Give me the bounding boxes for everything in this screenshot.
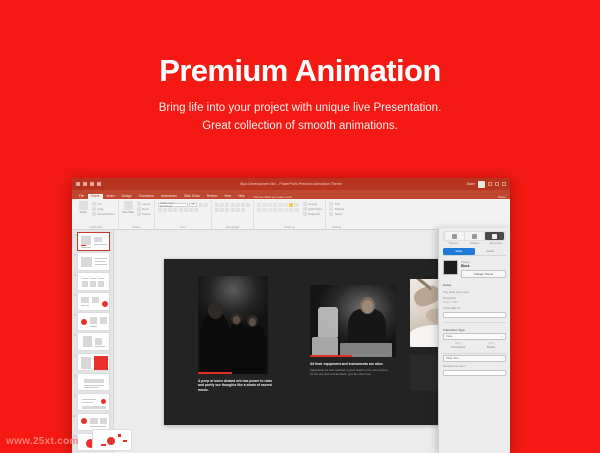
- center-icon[interactable]: [220, 208, 224, 212]
- find-button[interactable]: Find: [329, 202, 344, 206]
- man-at-desk-photo[interactable]: [310, 285, 396, 357]
- ribbon-group-drawing: Arrange Quick Styles Shape Fill Drawing: [254, 200, 326, 229]
- paste-label: Paste: [80, 211, 87, 214]
- copy-button[interactable]: Copy: [92, 207, 115, 211]
- change-theme-button[interactable]: Change Theme: [461, 270, 506, 278]
- hero-banner: Premium Animation Bring life into your p…: [0, 0, 600, 178]
- group-label-font: Font: [158, 226, 208, 230]
- slide-thumbnail-3[interactable]: [77, 272, 110, 291]
- watermark-text: www.25xt.com: [6, 436, 79, 447]
- increase-font-size-icon[interactable]: [199, 203, 203, 207]
- transition-type-value: Fade: [446, 334, 452, 338]
- list-item[interactable]: 8: [73, 373, 111, 392]
- slide-thumbnail-pane[interactable]: 1 2 3: [72, 230, 114, 453]
- replace-icon: [329, 207, 333, 211]
- italic-icon[interactable]: [163, 208, 167, 212]
- thumbnail-number: 9: [73, 393, 76, 398]
- shape-highlight-icon[interactable]: [289, 203, 293, 207]
- segment-label-shapes: Shapes: [464, 242, 484, 245]
- segment-label-document: Document: [486, 242, 506, 245]
- setting-show-slide-for[interactable]: Show slide for: [443, 306, 506, 318]
- theme-value: Black: [461, 264, 506, 268]
- password-label: Password to open: [443, 364, 506, 368]
- minimize-icon[interactable]: [488, 182, 492, 186]
- slide-size-select[interactable]: Slide Size... ⌄: [443, 355, 506, 362]
- builds-duration[interactable]: 1.0 s Builds: [476, 342, 506, 349]
- shape-fill-button[interactable]: Shape Fill: [303, 212, 323, 216]
- chevron-down-icon: ⌄: [500, 356, 503, 360]
- paste-icon: [79, 201, 88, 210]
- cut-icon: [92, 202, 96, 206]
- caption-left-text: A peep of some distant orb has power to …: [198, 379, 274, 393]
- tab-audio[interactable]: Audio: [475, 248, 507, 255]
- list-item[interactable]: 5: [73, 312, 111, 331]
- tab-slide[interactable]: Slide: [443, 248, 475, 255]
- slide-thumbnail-4[interactable]: [77, 292, 110, 311]
- group-label-clipboard: Clipboard: [77, 226, 115, 230]
- arrange-icon: [303, 202, 307, 206]
- list-item[interactable]: 7: [73, 353, 111, 372]
- convert-smartart-icon[interactable]: [241, 208, 245, 212]
- group-label-paragraph: Paragraph: [215, 226, 250, 230]
- change-case-icon[interactable]: [189, 208, 193, 212]
- chevron-down-icon: ⌄: [500, 334, 503, 338]
- ribbon-group-editing: Find Replace Select Editing: [326, 200, 347, 229]
- builds-duration-label: Builds: [476, 345, 506, 349]
- group-label-slides: Slides: [122, 226, 151, 230]
- powerpoint-window[interactable]: Sipa Development Mix - PowerPoint Premiu…: [72, 178, 510, 453]
- thumbnail-number: 1: [73, 232, 76, 237]
- new-slide-icon: [124, 201, 133, 210]
- watermark-thumbnail: [92, 429, 132, 451]
- underline-icon[interactable]: [168, 208, 172, 212]
- workspace: 1 2 3: [72, 230, 510, 453]
- close-icon[interactable]: [502, 182, 506, 186]
- columns-icon[interactable]: [236, 208, 240, 212]
- caption-right-body: Apparently we had reached a great height…: [310, 368, 390, 376]
- text-direction-icon[interactable]: [241, 203, 245, 207]
- ribbon-tab-bar[interactable]: File Home Insert Design Transitions Anim…: [72, 190, 510, 199]
- ribbon-group-paragraph: Paragraph: [212, 200, 254, 229]
- replace-button[interactable]: Replace: [329, 207, 344, 211]
- window-titlebar[interactable]: Sipa Development Mix - PowerPoint Premiu…: [72, 178, 510, 190]
- inspector-segment-control[interactable]: [443, 231, 506, 241]
- format-painter-button[interactable]: Format Painter: [92, 212, 115, 216]
- strikethrough-icon[interactable]: [179, 208, 183, 212]
- segment-label-themes: Themes: [443, 242, 463, 245]
- numbering-icon[interactable]: [220, 203, 224, 207]
- document-title: Sipa Development Mix - PowerPoint Premiu…: [72, 182, 510, 186]
- ribbon-group-slides: New Slide Layout Reset Section: [119, 200, 155, 229]
- slide-thumbnail-2[interactable]: [77, 252, 110, 271]
- thumbnail-number: 2: [73, 252, 76, 257]
- format-inspector-panel[interactable]: Themes Shapes Document Slide Audio Theme…: [438, 228, 510, 453]
- password-section: Password to open: [443, 364, 506, 376]
- segment-document[interactable]: [485, 232, 504, 240]
- list-item[interactable]: 1: [73, 232, 111, 251]
- theme-swatch[interactable]: [443, 260, 458, 275]
- layout-button[interactable]: Layout: [137, 202, 151, 206]
- list-item[interactable]: 2: [73, 252, 111, 271]
- transition-type-select[interactable]: Fade ⌄: [443, 333, 506, 340]
- section-button[interactable]: Section: [137, 212, 151, 216]
- slide-thumbnail-5[interactable]: [77, 312, 110, 331]
- caption-right-heading: All their equipment and instruments are …: [310, 362, 390, 367]
- themes-icon: [452, 234, 457, 239]
- shapes-gallery[interactable]: [257, 201, 298, 212]
- ribbon-group-clipboard: Paste Cut Copy Format Painter: [74, 200, 119, 229]
- reset-button[interactable]: Reset: [137, 207, 151, 211]
- group-label-editing: Editing: [329, 226, 344, 230]
- hero-subtitle-line-1: Bring life into your project with unique…: [159, 100, 442, 118]
- segment-themes[interactable]: [445, 232, 464, 240]
- bold-icon[interactable]: [158, 208, 162, 212]
- font-color-icon[interactable]: [194, 208, 198, 212]
- shapes-icon: [472, 234, 477, 239]
- cut-button[interactable]: Cut: [92, 202, 115, 206]
- reset-icon: [137, 207, 141, 211]
- align-left-icon[interactable]: [215, 208, 219, 212]
- font-name-input[interactable]: Calibri Light (Headings): [158, 203, 188, 208]
- divider: [443, 353, 506, 354]
- copy-icon: [92, 207, 96, 211]
- password-input[interactable]: [443, 370, 506, 376]
- setting-play-on-open[interactable]: Play slide upon open: [443, 290, 506, 294]
- layout-icon: [137, 202, 141, 206]
- align-right-icon[interactable]: [225, 208, 229, 212]
- justify-icon[interactable]: [231, 208, 235, 212]
- document-icon: [492, 234, 497, 239]
- theme-section: Theme Black Change Theme: [443, 260, 506, 279]
- slide-editing-area[interactable]: A peep of some distant orb has power to …: [164, 259, 460, 425]
- slide-thumbnail-6[interactable]: [77, 332, 110, 351]
- thumbnail-number: 4: [73, 292, 76, 297]
- group-label-drawing: Drawing: [257, 226, 322, 230]
- thumbnail-number: 3: [73, 272, 76, 277]
- duration-row: 0.8 s Transitions 1.0 s Builds: [443, 342, 506, 349]
- slide-thumbnail-9[interactable]: [77, 393, 110, 412]
- maximize-icon[interactable]: [495, 182, 499, 186]
- thumbnail-number: 10: [73, 413, 76, 418]
- list-item[interactable]: 9: [73, 393, 111, 412]
- transition-duration-label: Transitions: [443, 345, 473, 349]
- setting-resolution[interactable]: Resolution 1920 x 1080: [443, 296, 506, 304]
- thumbnail-number: 8: [73, 373, 76, 378]
- show-slide-for-input[interactable]: [443, 312, 506, 318]
- list-item[interactable]: 3: [73, 272, 111, 291]
- hero-subtitle: Bring life into your project with unique…: [159, 100, 442, 136]
- shape-fill-icon: [303, 212, 307, 216]
- thumbnail-number: 7: [73, 353, 76, 358]
- decrease-font-size-icon[interactable]: [204, 203, 208, 207]
- font-size-input[interactable]: 28: [189, 203, 197, 208]
- caption-left: A peep of some distant orb has power to …: [198, 379, 274, 393]
- thumbnail-number: 5: [73, 312, 76, 317]
- section-icon: [137, 212, 141, 216]
- increase-indent-icon[interactable]: [231, 203, 235, 207]
- play-on-open-label: Play slide upon open: [443, 290, 506, 294]
- decrease-indent-icon[interactable]: [225, 203, 229, 207]
- select-icon: [329, 212, 333, 216]
- divider: [443, 322, 506, 323]
- transition-section-header: Transition Type: [443, 328, 506, 332]
- resolution-label: Resolution: [443, 296, 506, 300]
- select-button[interactable]: Select: [329, 212, 344, 216]
- resolution-value: 1920 x 1080: [443, 301, 506, 304]
- page-title: Premium Animation: [159, 55, 440, 86]
- slide-thumbnail-1[interactable]: [77, 232, 110, 251]
- shadow-icon[interactable]: [173, 208, 177, 212]
- setup-section-header: Setup: [443, 283, 506, 287]
- thumbnail-number: 6: [73, 332, 76, 337]
- show-slide-for-label: Show slide for: [443, 306, 506, 310]
- transition-duration[interactable]: 0.8 s Transitions: [443, 342, 473, 349]
- character-spacing-icon[interactable]: [184, 208, 188, 212]
- find-icon: [329, 202, 333, 206]
- new-slide-label: New Slide: [122, 211, 134, 214]
- slide-thumbnail-8[interactable]: [77, 373, 110, 392]
- inspector-tabs[interactable]: Slide Audio: [443, 248, 506, 256]
- arrange-button[interactable]: Arrange: [303, 202, 323, 206]
- hero-subtitle-line-2: Great collection of smooth animations.: [159, 118, 442, 136]
- segment-shapes[interactable]: [465, 232, 484, 240]
- slide-size-label: Slide Size...: [446, 356, 461, 360]
- two-businessmen-photo[interactable]: [198, 276, 268, 374]
- new-slide-button[interactable]: New Slide: [122, 201, 135, 214]
- format-painter-icon: [92, 212, 96, 216]
- caption-right: All their equipment and instruments are …: [310, 362, 390, 377]
- list-item[interactable]: 6: [73, 332, 111, 351]
- quick-styles-button[interactable]: Quick Styles: [303, 207, 323, 211]
- ribbon-home-panel[interactable]: Paste Cut Copy Format Painter: [72, 199, 510, 230]
- slide-thumbnail-7[interactable]: [77, 353, 110, 372]
- theme-label: Theme: [461, 260, 506, 264]
- line-spacing-icon[interactable]: [236, 203, 240, 207]
- paste-button[interactable]: Paste: [77, 201, 90, 214]
- list-item[interactable]: 4: [73, 292, 111, 311]
- bullets-icon[interactable]: [215, 203, 219, 207]
- ribbon-group-font: Calibri Light (Headings) 28: [155, 200, 212, 229]
- inspector-segment-labels: Themes Shapes Document: [443, 242, 506, 245]
- quick-styles-icon: [303, 207, 307, 211]
- align-text-icon[interactable]: [246, 203, 250, 207]
